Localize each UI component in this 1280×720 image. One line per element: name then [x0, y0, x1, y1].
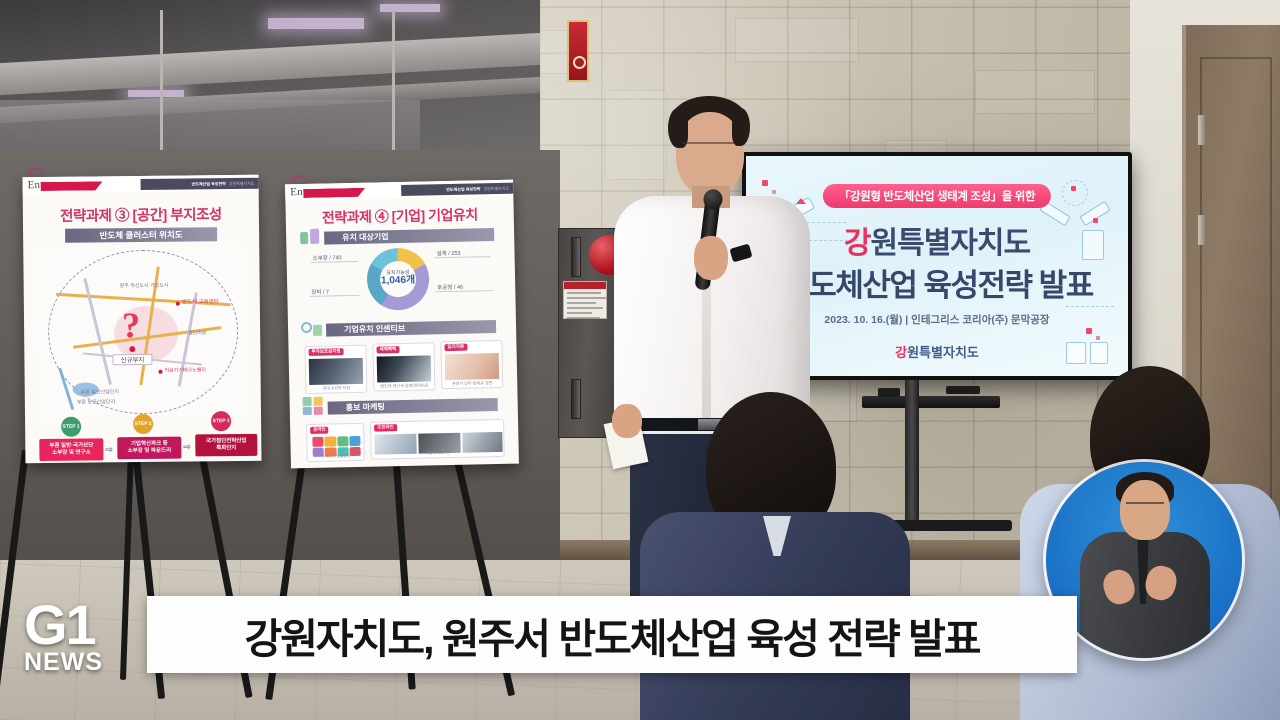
map-label: 의료기기테크노밸리: [165, 366, 206, 373]
headline-text: 강원자치도, 원주서 반도체산업 육성 전략 발표: [244, 605, 979, 665]
cabinet-handle-bottom[interactable]: [571, 379, 581, 419]
section-icon-1: [298, 228, 322, 246]
flow-box-3: 국가첨단전략산업 특화단지: [195, 434, 257, 457]
slide-meta: 2023. 10. 16.(월) | 인테그리스 코리아(주) 문막공장: [824, 312, 1049, 327]
map-label: 원주 혁신도시 기업도시: [120, 282, 169, 290]
cabinet-handle-top[interactable]: [571, 237, 581, 277]
lower-third-headline-bar: 강원자치도, 원주서 반도체산업 육성 전략 발표: [147, 596, 1077, 673]
poster-section-bar-1: 유치 대상기업: [324, 228, 494, 245]
interpreter-glasses-icon: [1126, 502, 1164, 511]
poster-brand-bar: Ent 반도체산업 육성전략 강원특별자치도: [285, 180, 513, 201]
donut-center-value: 1,046개: [381, 276, 415, 287]
channel-logo-sub: NEWS: [24, 648, 144, 677]
flow-arrow-2: ⇨: [183, 441, 191, 452]
map-label: 부론 일반산업단지: [81, 388, 119, 395]
donut-label-3: 후공정 / 46: [437, 283, 463, 292]
poster-board-strategy-4: Ent 반도체산업 육성전략 강원특별자치도 전략과제 ④ [기업] 기업유치 …: [285, 180, 519, 469]
brand-accent-wedge: [303, 188, 365, 198]
flow-box-2: 기업혁신파크 등 소부장 및 파운드리: [117, 437, 181, 460]
map-label: 반도체 교육센터: [182, 297, 219, 305]
step-badge-1: STEP 1: [61, 417, 81, 437]
donut-label-0: 소부장 / 740: [313, 253, 342, 262]
ceiling-light-1: [268, 18, 364, 29]
poster-header-tag: 반도체산업 육성전략 강원특별자치도: [401, 183, 513, 196]
promo-card-offline: 오프라인 기업 투자유치단: [370, 419, 505, 460]
presenter-glasses-icon: [682, 142, 734, 154]
door-panel: [1200, 57, 1272, 530]
incentive-card-2: 세제혜택 법인세·재산세 감면(최대5년): [372, 342, 435, 391]
step-badge-2: STEP 2: [133, 414, 153, 434]
slide-title-line2: 반도체산업 육성전략 발표: [781, 260, 1092, 305]
door-hinge-bottom: [1198, 215, 1205, 245]
flow-box-1: 부론 일반·국가산단 소부장 및 연구소: [39, 438, 103, 461]
step-badge-3: STEP 3: [211, 411, 231, 431]
glass-mullion-1: [160, 10, 163, 160]
ceiling-light-2: [380, 4, 440, 12]
donut-label-2: 장비 / 7: [311, 288, 329, 296]
channel-logo-main: G1: [24, 598, 144, 651]
map-chip-new-site: 신규부지: [112, 354, 152, 365]
tv-stand-shelf: [862, 396, 1000, 408]
poster-brand-bar: Ent 반도체산업 육성전략 강원특별자치도: [23, 175, 259, 193]
presenter-hand-left: [612, 404, 642, 438]
brand-accent-wedge: [41, 181, 103, 191]
map-label: 부론 농공산업단지: [77, 398, 115, 405]
semiconductor-cluster-map: ? 신규부지 반도체 교육센터 원주 혁신도시 기업도시 첨단의료 의료기기테크…: [35, 245, 249, 419]
section-icon-3: [301, 396, 325, 416]
map-label: 첨단의료: [188, 329, 206, 336]
slide-deco-chip-b: [1066, 342, 1086, 364]
poster-title: 전략과제 ④ [기업] 기업유치: [286, 204, 514, 229]
fire-instruction-label: [563, 281, 607, 319]
poster-header-tag: 반도체산업 육성전략 강원특별자치도: [141, 178, 259, 190]
slide-deco-chip-a: [1090, 342, 1108, 364]
site-question-mark: ?: [122, 304, 140, 346]
presenter-hand-right: [694, 236, 728, 280]
broadcast-frame: Ent 반도체산업 육성전략 강원특별자치도 전략과제 ③ [공간] 부지조성 …: [0, 0, 1280, 720]
emergency-sign-icon: [567, 20, 589, 82]
poster-section-bar-2: 기업유치 인센티브: [326, 320, 496, 337]
slide-footer-logo: 강원특별자치도: [895, 342, 979, 361]
shelf-device-2: [946, 386, 980, 394]
slide-title-line1: 강원특별자치도: [844, 218, 1030, 262]
poster-section-bar: 반도체 클러스터 위치도: [65, 227, 217, 243]
ceiling-light-3: [128, 90, 184, 97]
channel-logo: G1 NEWS: [24, 598, 144, 690]
shelf-device-1: [878, 388, 900, 397]
glass-mullion-2: [392, 10, 395, 160]
poster-section-bar-3: 홍보 마케팅: [328, 398, 498, 415]
donut-label-1: 설계 / 253: [436, 249, 460, 257]
poster-title: 전략과제 ③ [공간] 부지조성: [23, 203, 259, 226]
incentive-card-1: 투자보조금지원 최대 300억 지원: [304, 345, 367, 394]
section-icon-2: [300, 320, 324, 338]
poster-board-strategy-3: Ent 반도체산업 육성전략 강원특별자치도 전략과제 ③ [공간] 부지조성 …: [23, 175, 262, 463]
promo-card-online: 온라인 국내외 기업설명회: [306, 423, 365, 462]
presenter-hair-side: [732, 108, 750, 146]
donut-chart: 유치가능성 1,046개: [366, 247, 429, 310]
slide-banner: 「강원형 반도체산업 생태계 조성」을 위한: [823, 184, 1051, 208]
door-hinge-top: [1198, 115, 1205, 145]
incentive-card-3: 입지지원 분양가 인하·임대료 감면: [440, 340, 503, 389]
flow-arrow-1: ⇨: [105, 444, 113, 455]
tv-stand-post: [905, 380, 919, 530]
